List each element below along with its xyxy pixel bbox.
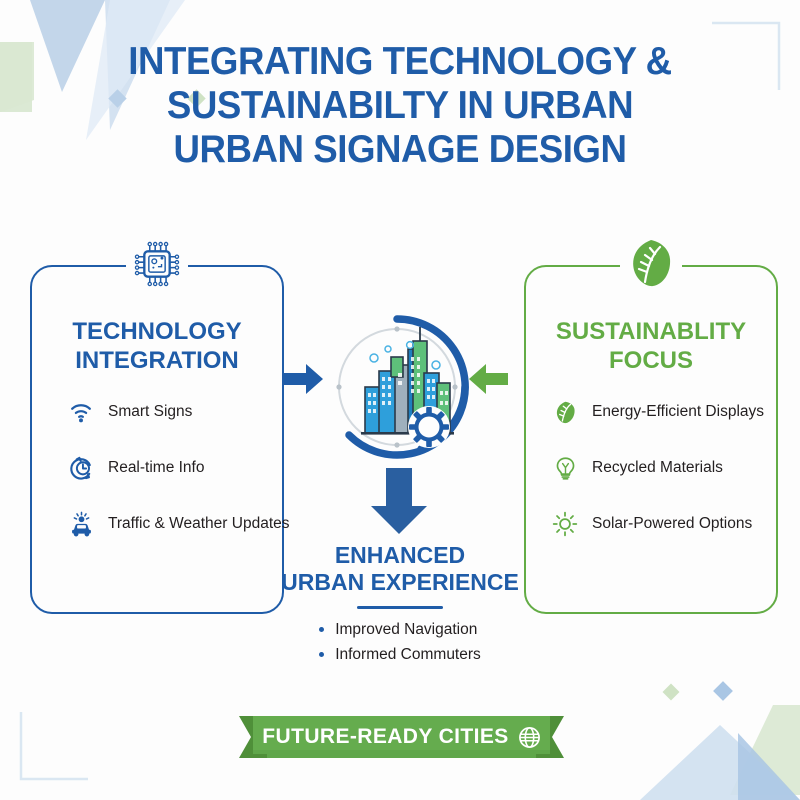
outcome-title-line-1: ENHANCED	[245, 542, 555, 569]
feature-recycled-materials[interactable]: Recycled Materials	[526, 453, 776, 483]
feature-label: Energy-Efficient Displays	[592, 403, 764, 421]
outcome-title: ENHANCED URBAN EXPERIENCE	[245, 542, 555, 596]
outcome-title-line-2: URBAN EXPERIENCE	[245, 569, 555, 596]
page-title-line-3: URBAN SIGNAGE DESIGN	[24, 128, 776, 172]
page-title: INTEGRATING TECHNOLOGY & SUSTAINABILTY I…	[24, 40, 776, 172]
outcome-bullet: Informed Commuters	[319, 642, 481, 667]
leaf-icon	[550, 397, 580, 427]
feature-energy-efficient-displays[interactable]: Energy-Efficient Displays	[526, 397, 776, 427]
outcome-bullet: Improved Navigation	[319, 617, 481, 642]
feature-smart-signs[interactable]: Smart Signs	[32, 397, 282, 427]
technology-card-title-line-1: TECHNOLOGY	[32, 317, 282, 346]
sustainability-feature-list: Energy-Efficient Displays Recycled Mater…	[526, 397, 776, 565]
technology-card-title: TECHNOLOGY INTEGRATION	[32, 317, 282, 375]
feature-label: Recycled Materials	[592, 459, 723, 477]
technology-feature-list: Smart Signs Real-time Info	[32, 397, 282, 565]
feature-label: Smart Signs	[108, 403, 192, 421]
feature-label: Traffic & Weather Updates	[108, 515, 290, 533]
sustainability-focus-card[interactable]: SUSTAINABLITY FOCUS Energy-Efficient Dis…	[524, 265, 778, 614]
sustainability-card-title-line-1: SUSTAINABLITY	[526, 317, 776, 346]
sun-icon	[550, 509, 580, 539]
feature-label: Solar-Powered Options	[592, 515, 752, 533]
arrow-right-blue-icon	[284, 363, 324, 400]
future-ready-cities-banner: FUTURE-READY CITIES	[239, 712, 564, 762]
infographic-canvas: INTEGRATING TECHNOLOGY & SUSTAINABILTY I…	[0, 0, 800, 800]
sustainability-card-title: SUSTAINABLITY FOCUS	[526, 317, 776, 375]
wifi-icon	[66, 397, 96, 427]
feature-real-time-info[interactable]: Real-time Info	[32, 453, 282, 483]
technology-card-title-line-2: INTEGRATION	[32, 346, 282, 375]
outcome-block: ENHANCED URBAN EXPERIENCE Improved Navig…	[245, 542, 555, 667]
sustainability-card-title-line-2: FOCUS	[526, 346, 776, 375]
feature-traffic-weather[interactable]: Traffic & Weather Updates	[32, 509, 282, 539]
banner-label: FUTURE-READY CITIES	[262, 725, 508, 749]
banner-content: FUTURE-READY CITIES	[239, 725, 564, 749]
leaf-icon	[618, 231, 684, 297]
page-title-line-1: INTEGRATING TECHNOLOGY &	[24, 40, 776, 84]
outcome-bullet-list: Improved Navigation Informed Commuters	[319, 617, 481, 667]
arrow-left-green-icon	[468, 363, 508, 400]
globe-icon	[518, 726, 541, 749]
arrow-down-blue-icon	[357, 468, 441, 539]
lightbulb-icon	[550, 453, 580, 483]
traffic-car-icon	[66, 509, 96, 539]
outcome-divider	[357, 606, 443, 609]
feature-label: Real-time Info	[108, 459, 204, 477]
clock-refresh-icon	[66, 453, 96, 483]
smart-city-circle-icon	[325, 315, 475, 475]
feature-solar-powered-options[interactable]: Solar-Powered Options	[526, 509, 776, 539]
page-title-line-2: SUSTAINABILTY IN URBAN	[24, 84, 776, 128]
microchip-icon	[124, 231, 190, 297]
